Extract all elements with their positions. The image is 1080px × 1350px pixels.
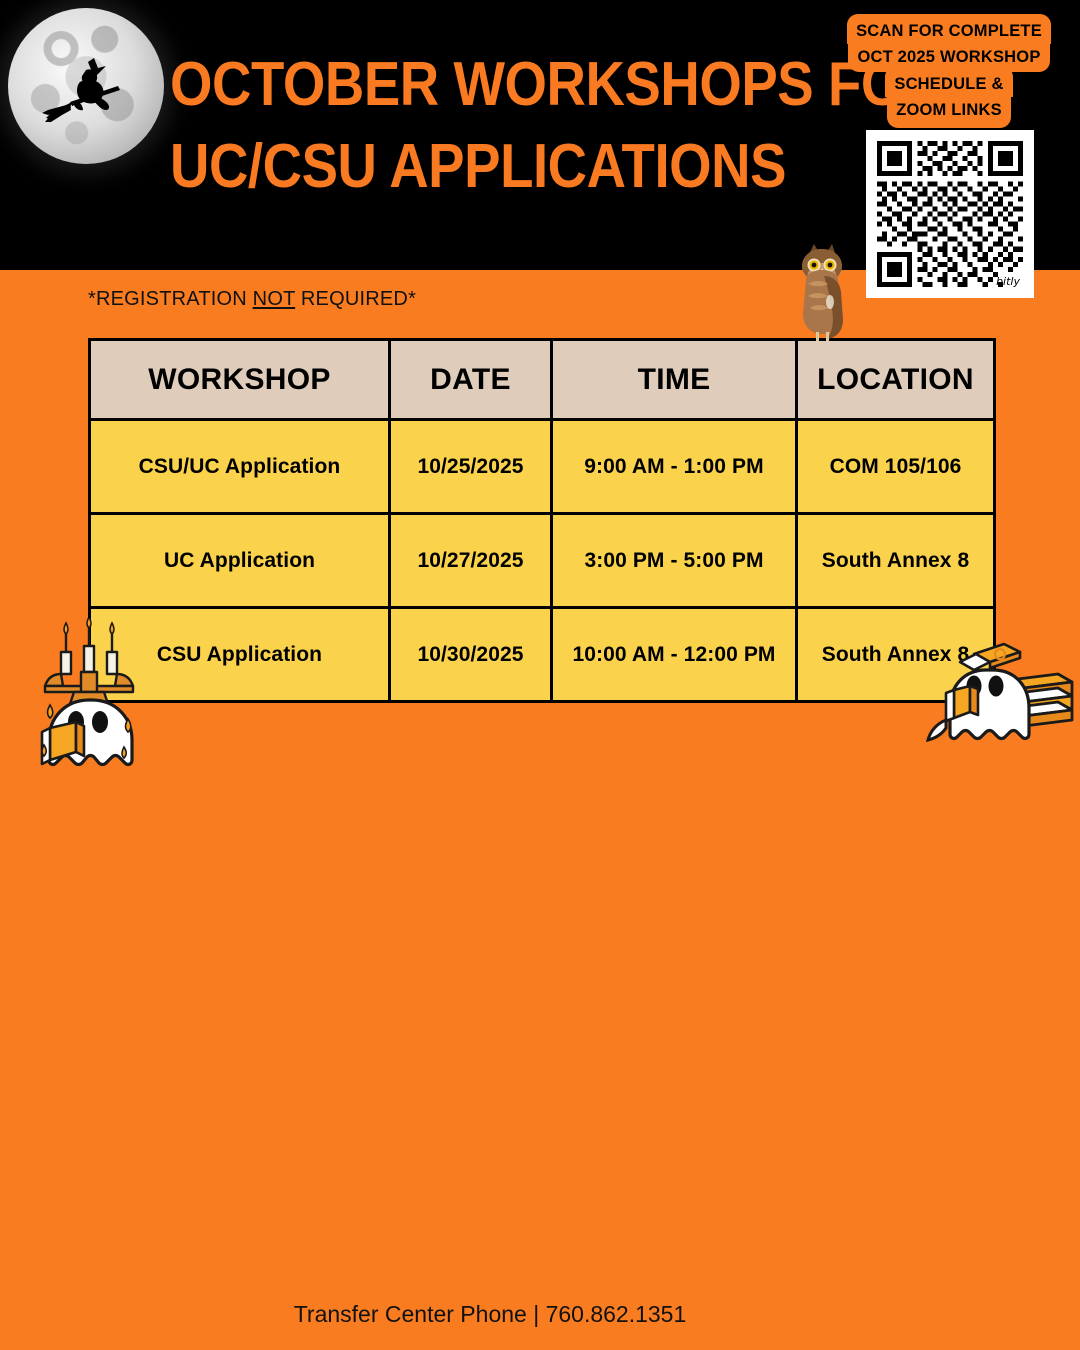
cell-location: South Annex 8 bbox=[797, 514, 995, 608]
witch-on-broom-icon bbox=[36, 56, 136, 126]
scan-instruction-badge: SCAN FOR COMPLETE OCT 2025 WORKSHOP SCHE… bbox=[843, 14, 1055, 128]
footer-contact: Transfer Center Phone | 760.862.1351 bbox=[0, 1301, 1080, 1328]
scan-badge-line-4: ZOOM LINKS bbox=[887, 97, 1011, 128]
full-moon-with-witch-icon bbox=[8, 8, 164, 164]
table-row: CSU Application 10/30/2025 10:00 AM - 12… bbox=[90, 608, 995, 702]
cell-date: 10/27/2025 bbox=[390, 514, 552, 608]
scan-badge-line-3: SCHEDULE & bbox=[885, 66, 1012, 97]
cell-workshop: UC Application bbox=[90, 514, 390, 608]
scan-badge-line-1: SCAN FOR COMPLETE bbox=[847, 14, 1051, 44]
ghost-reading-book-with-candelabra-icon bbox=[28, 618, 150, 778]
column-header-date: DATE bbox=[390, 340, 552, 420]
workshop-schedule-table: WORKSHOP DATE TIME LOCATION CSU/UC Appli… bbox=[88, 338, 996, 703]
qr-code-icon[interactable]: bitly bbox=[866, 130, 1034, 298]
title-line-2: UC/CSU APPLICATIONS bbox=[170, 126, 751, 208]
column-header-workshop: WORKSHOP bbox=[90, 340, 390, 420]
column-header-location: LOCATION bbox=[797, 340, 995, 420]
cell-time: 10:00 AM - 12:00 PM bbox=[552, 608, 797, 702]
qr-caption: bitly bbox=[996, 275, 1020, 288]
cell-workshop: CSU/UC Application bbox=[90, 420, 390, 514]
table-row: UC Application 10/27/2025 3:00 PM - 5:00… bbox=[90, 514, 995, 608]
ghost-with-books-icon bbox=[922, 628, 1074, 756]
cell-date: 10/30/2025 bbox=[390, 608, 552, 702]
cell-time: 3:00 PM - 5:00 PM bbox=[552, 514, 797, 608]
registration-note-prefix: *REGISTRATION bbox=[88, 288, 253, 310]
registration-note-suffix: REQUIRED* bbox=[295, 288, 416, 310]
registration-note-emphasis: NOT bbox=[253, 288, 295, 310]
qr-code-matrix bbox=[877, 141, 1023, 287]
scan-badge-line-2: OCT 2025 WORKSHOP bbox=[848, 44, 1049, 72]
column-header-time: TIME bbox=[552, 340, 797, 420]
registration-note: *REGISTRATION NOT REQUIRED* bbox=[88, 288, 416, 311]
cell-location: COM 105/106 bbox=[797, 420, 995, 514]
cell-date: 10/25/2025 bbox=[390, 420, 552, 514]
cell-time: 9:00 AM - 1:00 PM bbox=[552, 420, 797, 514]
owl-icon bbox=[786, 240, 858, 342]
page-title: OCTOBER WORKSHOPS FOR UC/CSU APPLICATION… bbox=[170, 44, 830, 208]
table-row: CSU/UC Application 10/25/2025 9:00 AM - … bbox=[90, 420, 995, 514]
table-header-row: WORKSHOP DATE TIME LOCATION bbox=[90, 340, 995, 420]
title-line-1: OCTOBER WORKSHOPS FOR bbox=[170, 44, 751, 126]
